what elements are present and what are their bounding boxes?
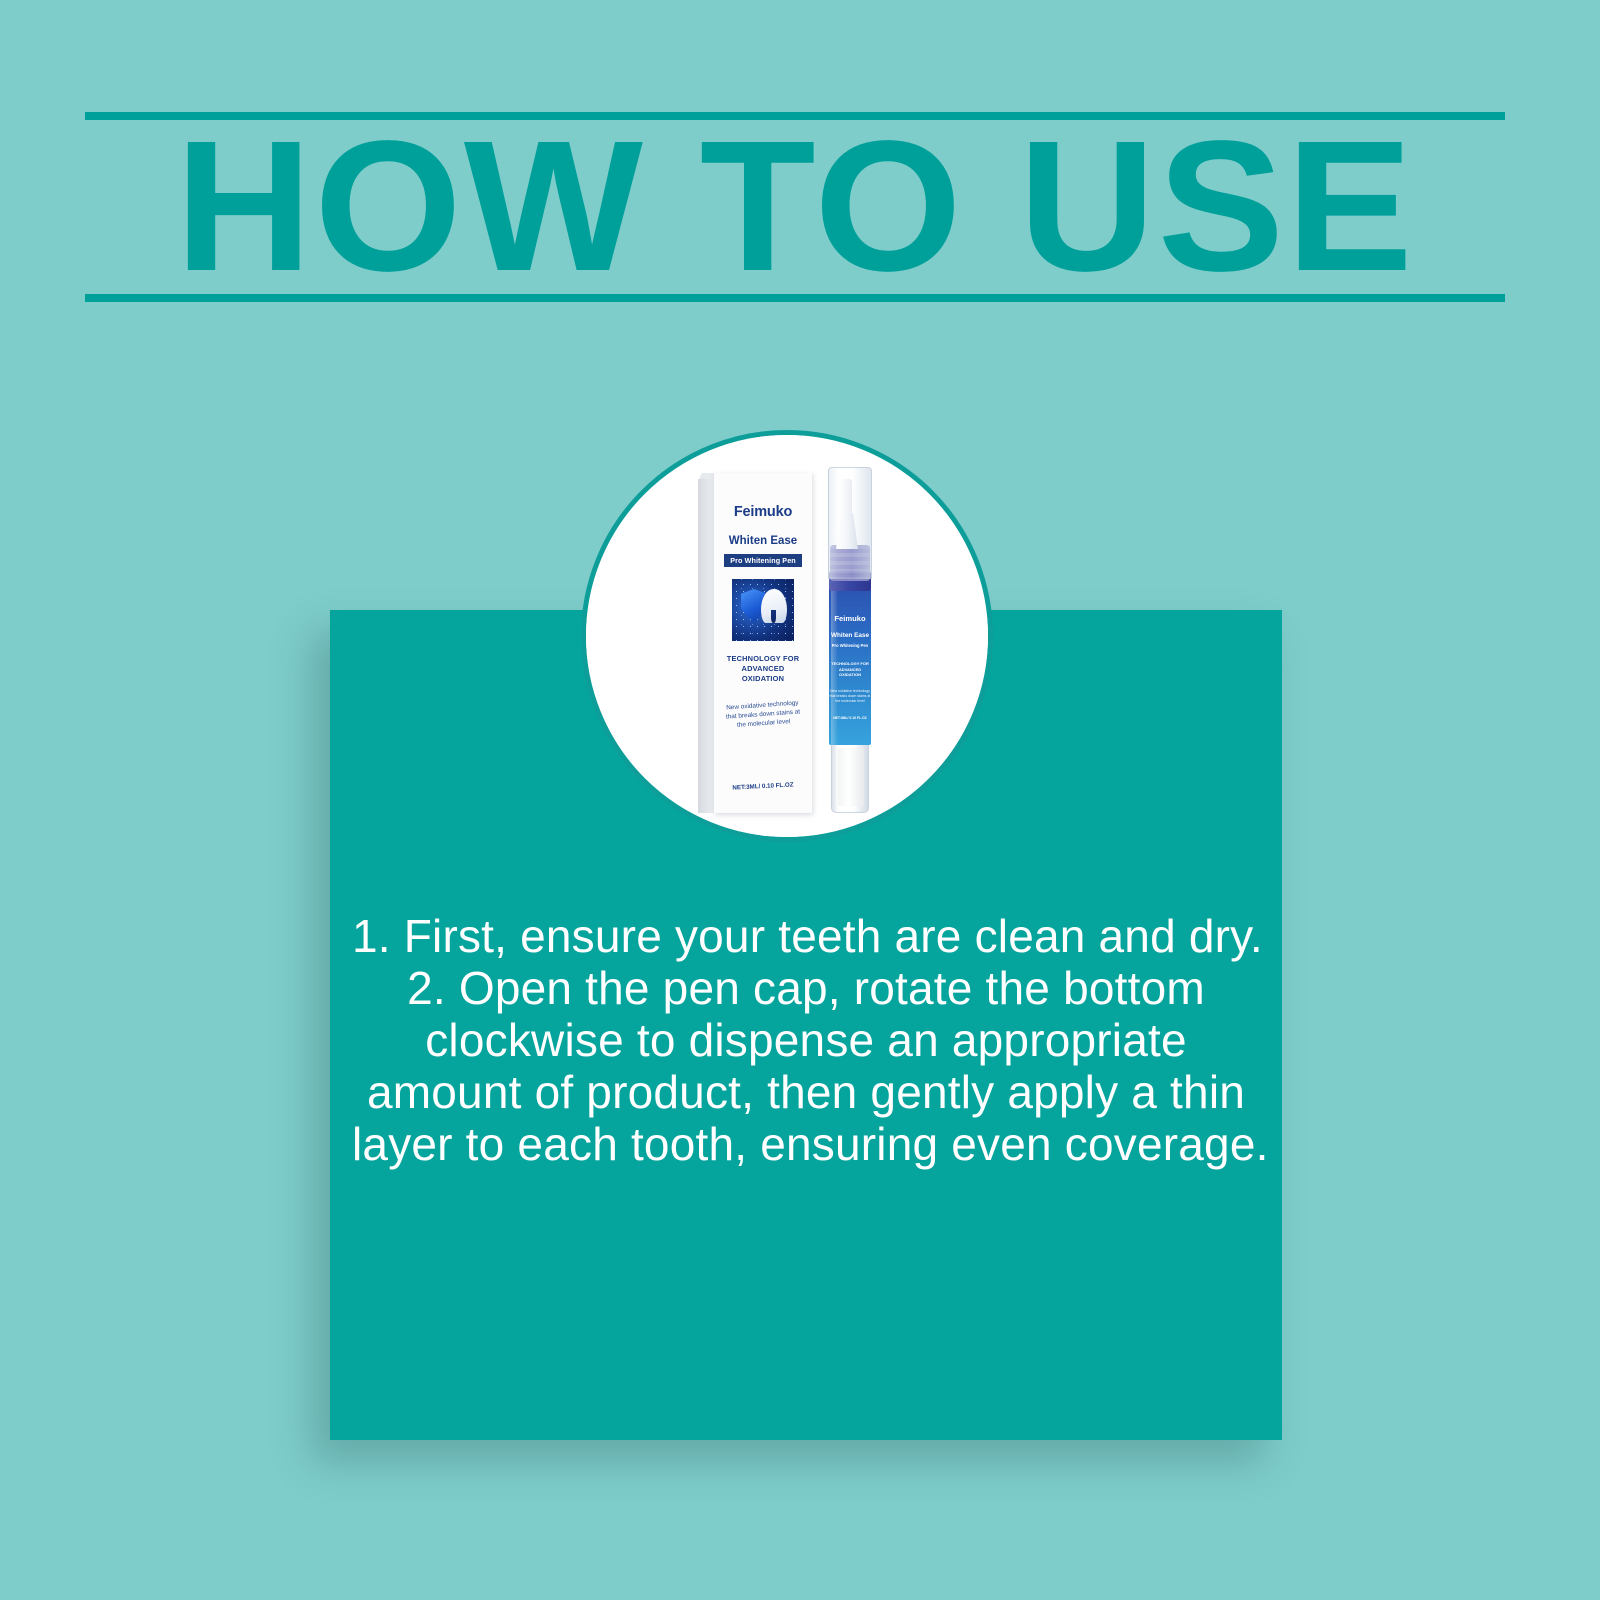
tooth-icon	[761, 589, 787, 623]
pen-product-badge: Pro Whitening Pen	[829, 643, 871, 648]
product-pen: Feimuko Whiten Ease Pro Whitening Pen TE…	[822, 467, 878, 819]
instruction-line-2: 2. Open the pen cap, rotate the bottom	[352, 962, 1260, 1014]
box-description: New oxidative technology that breaks dow…	[722, 698, 804, 731]
pen-tech-line: TECHNOLOGY FOR ADVANCED OXIDATION	[829, 661, 871, 678]
page-title: HOW TO USE	[71, 112, 1519, 302]
pen-product-name: Whiten Ease	[829, 632, 871, 639]
product-photo-circle: Feimuko Whiten Ease Pro Whitening Pen TE…	[581, 430, 993, 842]
product-box: Feimuko Whiten Ease Pro Whitening Pen TE…	[714, 473, 812, 813]
instructions-block: 1. First, ensure your teeth are clean an…	[352, 910, 1260, 1170]
shield-tooth-icon	[732, 579, 794, 641]
pen-description: New oxidative technology that breaks dow…	[829, 689, 871, 704]
pen-net-content: NET:3ML/ 0.10 FL.OZ	[829, 716, 871, 720]
box-product-name: Whiten Ease	[723, 535, 803, 547]
pen-clear-cap	[828, 467, 872, 579]
box-product-badge: Pro Whitening Pen	[724, 554, 802, 567]
product-photo: Feimuko Whiten Ease Pro Whitening Pen TE…	[586, 435, 988, 837]
page-header: HOW TO USE	[85, 112, 1505, 302]
header-rule-bottom	[85, 294, 1505, 302]
instruction-line-5: layer to each tooth, ensuring even cover…	[352, 1118, 1260, 1170]
pen-body: Feimuko Whiten Ease Pro Whitening Pen TE…	[829, 587, 871, 745]
pen-brand-label: Feimuko	[829, 614, 871, 623]
instruction-line-1: 1. First, ensure your teeth are clean an…	[352, 910, 1260, 962]
instruction-line-4: amount of product, then gently apply a t…	[352, 1066, 1260, 1118]
box-brand-label: Feimuko	[723, 504, 803, 520]
product-box-side-face	[698, 479, 715, 813]
box-tech-line: TECHNOLOGY FOR ADVANCED OXIDATION	[723, 654, 803, 684]
box-net-content: NET:3ML/ 0.10 FL.OZ	[714, 780, 812, 792]
pen-base	[831, 743, 869, 813]
instruction-line-3: clockwise to dispense an appropriate	[352, 1014, 1260, 1066]
